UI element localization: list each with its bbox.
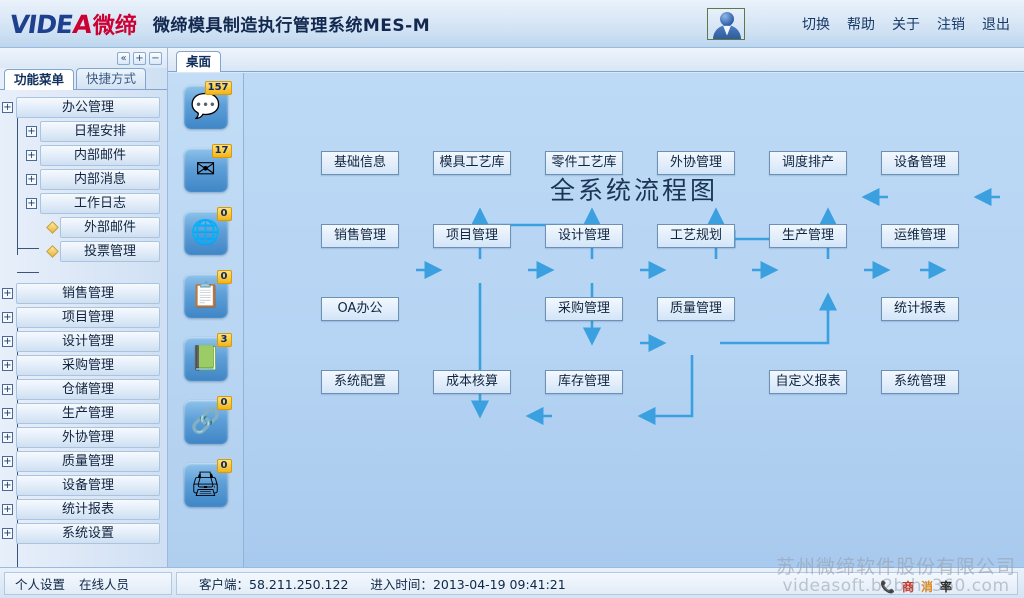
logo-a-mark: A [70,10,93,39]
logo-cn-text: 微缔 [93,8,137,40]
tree-item-worklog[interactable]: + 工作日志 [2,193,160,214]
flow-node-project[interactable]: 项目管理 [433,224,511,248]
about-link[interactable]: 关于 [892,14,920,34]
login-label: 进入时间： [370,577,433,592]
flow-node-design[interactable]: 设计管理 [545,224,623,248]
login-value: 2013-04-19 09:41:21 [433,577,566,592]
avatar[interactable] [707,8,745,40]
flow-node-production[interactable]: 生产管理 [769,224,847,248]
expander-icon[interactable]: + [2,408,13,419]
tree-item-statistics[interactable]: + 统计报表 [2,499,160,520]
flow-node-sys-config[interactable]: 系统配置 [321,370,399,394]
tree-item-label[interactable]: 工作日志 [40,193,160,214]
collapse-button[interactable]: « [117,52,130,65]
tree-item-label[interactable]: 生产管理 [16,403,160,424]
mail-glyph: ✉ [195,158,215,182]
flow-node-sys-admin[interactable]: 系统管理 [881,370,959,394]
messages-glyph: 💬 [191,95,221,119]
tree-item-voting[interactable]: 投票管理 [2,241,160,262]
printer-badge: 0 [217,459,232,473]
expander-icon[interactable]: + [2,288,13,299]
network-icon[interactable]: 🔗 0 [184,400,228,444]
tree-item-design[interactable]: + 设计管理 [2,331,160,352]
messages-badge: 157 [205,81,232,95]
tree-item-system-settings[interactable]: + 系统设置 [2,523,160,544]
panel-tabs: 功能菜单 快捷方式 [0,68,167,90]
diamond-bullet-icon [46,245,59,258]
flow-node-inventory[interactable]: 库存管理 [545,370,623,394]
network-glyph: 🔗 [191,410,221,434]
tree-item-office[interactable]: + 办公管理 [2,97,160,118]
tree-item-warehouse[interactable]: + 仓储管理 [2,379,160,400]
expander-icon[interactable]: + [2,480,13,491]
flow-node-cost[interactable]: 成本核算 [433,370,511,394]
flow-node-custom-report[interactable]: 自定义报表 [769,370,847,394]
content-tab-strip: 桌面 [168,48,1024,72]
notepad-glyph: 📋 [191,284,221,308]
tree-item-project[interactable]: + 项目管理 [2,307,160,328]
flow-node-oa[interactable]: OA办公 [321,297,399,321]
flow-node-part-process-lib[interactable]: 零件工艺库 [545,151,623,175]
client-label: 客户端： [199,577,249,592]
schedule-icon[interactable]: 📗 3 [184,337,228,381]
flow-node-equipment[interactable]: 设备管理 [881,151,959,175]
flow-node-statistics[interactable]: 统计报表 [881,297,959,321]
expander-icon[interactable]: + [2,456,13,467]
tree-item-label[interactable]: 外协管理 [16,427,160,448]
mail-badge: 17 [212,144,232,158]
flow-node-outsourcing[interactable]: 外协管理 [657,151,735,175]
client-info: 客户端：58.211.250.122 [199,574,348,593]
tree-item-purchasing[interactable]: + 采购管理 [2,355,160,376]
personal-settings-link[interactable]: 个人设置 [15,574,65,593]
flow-node-purchasing[interactable]: 采购管理 [545,297,623,321]
expander-icon[interactable]: + [2,360,13,371]
switch-link[interactable]: 切换 [802,14,830,34]
expander-icon[interactable]: + [2,102,13,113]
brand-logo: VIDEA微缔 [0,8,137,40]
main-area: 桌面 💬 157 ✉ 17 🌐 0 📋 0 📗 3 [168,48,1024,567]
tree-item-label[interactable]: 外部邮件 [60,217,160,238]
exit-link[interactable]: 退出 [982,14,1010,34]
expander-icon[interactable]: + [2,336,13,347]
tab-shortcuts[interactable]: 快捷方式 [76,68,146,89]
expander-icon[interactable]: + [2,312,13,323]
app-header: VIDEA微缔 微缔模具制造执行管理系统MES-M 切换 帮助 关于 注销 退出 [0,0,1024,48]
tree-item-label[interactable]: 设计管理 [16,331,160,352]
tree-item-schedule[interactable]: + 日程安排 [2,121,160,142]
tab-function-menu[interactable]: 功能菜单 [4,69,74,90]
online-users-link[interactable]: 在线人员 [79,574,129,593]
tree-item-label[interactable]: 系统设置 [16,523,160,544]
browser-glyph: 🌐 [191,221,221,245]
tree-item-quality[interactable]: + 质量管理 [2,451,160,472]
printer-glyph: 🖨 [190,473,220,497]
tree-item-label[interactable]: 内部邮件 [40,145,160,166]
flow-node-process-planning[interactable]: 工艺规划 [657,224,735,248]
expander-icon[interactable]: + [26,150,37,161]
printer-icon[interactable]: 🖨 0 [184,463,228,507]
expander-icon[interactable]: + [2,384,13,395]
browser-icon[interactable]: 🌐 0 [184,211,228,255]
browser-badge: 0 [217,207,232,221]
schedule-glyph: 📗 [191,347,221,371]
mail-icon[interactable]: ✉ 17 [184,148,228,192]
tree-item-label[interactable]: 仓储管理 [16,379,160,400]
logo-ide-mark: IDE [26,10,74,39]
tree-item-label[interactable]: 设备管理 [16,475,160,496]
diamond-bullet-icon [46,221,59,234]
tree-item-outsourcing[interactable]: + 外协管理 [2,427,160,448]
tree-item-label[interactable]: 投票管理 [60,241,160,262]
tree-item-label[interactable]: 质量管理 [16,451,160,472]
logout-link[interactable]: 注销 [937,14,965,34]
flow-node-sales[interactable]: 销售管理 [321,224,399,248]
client-value: 58.211.250.122 [249,577,348,592]
page-title: 微缔模具制造执行管理系统MES-M [153,11,430,36]
tree-item-external-mail[interactable]: 外部邮件 [2,217,160,238]
tree-item-label[interactable]: 销售管理 [16,283,160,304]
panel-toolbar: « + − [0,48,167,68]
expander-icon[interactable]: + [26,174,37,185]
login-info: 进入时间：2013-04-19 09:41:21 [370,574,565,593]
expander-icon[interactable]: + [26,198,37,209]
flow-node-basic-info[interactable]: 基础信息 [321,151,399,175]
function-tree: + 办公管理 + 日程安排 + 内部邮件 + 内部消息 + 工作日志 外部邮件 … [0,91,160,567]
tree-item-sales[interactable]: + 销售管理 [2,283,160,304]
tree-item-internal-message[interactable]: + 内部消息 [2,169,160,190]
messages-icon[interactable]: 💬 157 [184,85,228,129]
desktop-icon-column: 💬 157 ✉ 17 🌐 0 📋 0 📗 3 🔗 0 [168,73,244,567]
tree-item-production[interactable]: + 生产管理 [2,403,160,424]
tree-item-label[interactable]: 日程安排 [40,121,160,142]
flow-node-mold-process-lib[interactable]: 模具工艺库 [433,151,511,175]
network-badge: 0 [217,396,232,410]
desktop-content: 💬 157 ✉ 17 🌐 0 📋 0 📗 3 🔗 0 [168,73,1024,567]
expander-icon[interactable]: + [2,504,13,515]
flow-node-quality[interactable]: 质量管理 [657,297,735,321]
tree-item-equipment[interactable]: + 设备管理 [2,475,160,496]
status-left-group: 个人设置 在线人员 [4,572,172,595]
notepad-badge: 0 [217,270,232,284]
collapse-all-button[interactable]: − [149,52,162,65]
status-bar: 个人设置 在线人员 客户端：58.211.250.122 进入时间：2013-0… [0,567,1024,598]
tree-item-internal-mail[interactable]: + 内部邮件 [2,145,160,166]
tree-item-label[interactable]: 内部消息 [40,169,160,190]
flow-node-ops[interactable]: 运维管理 [881,224,959,248]
expander-icon[interactable]: + [2,432,13,443]
notepad-icon[interactable]: 📋 0 [184,274,228,318]
header-right-group: 切换 帮助 关于 注销 退出 [707,8,1024,40]
status-info-group: 客户端：58.211.250.122 进入时间：2013-04-19 09:41… [176,572,1018,595]
schedule-badge: 3 [217,333,232,347]
tree-item-label[interactable]: 采购管理 [16,355,160,376]
expander-icon[interactable]: + [26,126,37,137]
tree-item-label[interactable]: 统计报表 [16,499,160,520]
flow-node-scheduling[interactable]: 调度排产 [769,151,847,175]
system-flowchart: 全系统流程图 [244,73,1024,567]
avatar-head [720,12,734,26]
tab-desktop[interactable]: 桌面 [176,51,221,72]
left-panel: « + − 功能菜单 快捷方式 + 办公管理 + 日程安排 + 内部邮件 + 内… [0,48,168,567]
help-link[interactable]: 帮助 [847,14,875,34]
tree-connector-h2 [17,272,39,273]
tree-item-label[interactable]: 办公管理 [16,97,160,118]
expand-all-button[interactable]: + [133,52,146,65]
tree-item-label[interactable]: 项目管理 [16,307,160,328]
expander-icon[interactable]: + [2,528,13,539]
